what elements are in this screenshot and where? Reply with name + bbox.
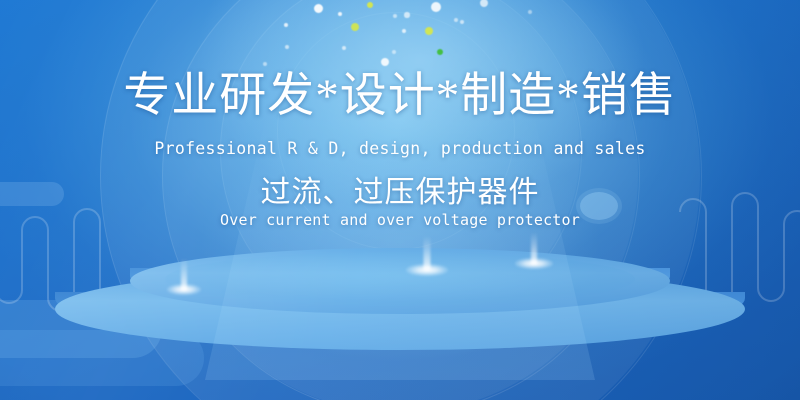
subheadline-english: Over current and over voltage protector bbox=[0, 211, 800, 229]
headline-chinese: 专业研发*设计*制造*销售 bbox=[0, 72, 800, 122]
headline-english: Professional R & D, design, production a… bbox=[0, 139, 800, 158]
promo-banner: 专业研发*设计*制造*销售 Professional R & D, design… bbox=[0, 0, 800, 400]
subheadline-chinese: 过流、过压保护器件 bbox=[0, 176, 800, 209]
banner-text-block: 专业研发*设计*制造*销售 Professional R & D, design… bbox=[0, 0, 800, 400]
